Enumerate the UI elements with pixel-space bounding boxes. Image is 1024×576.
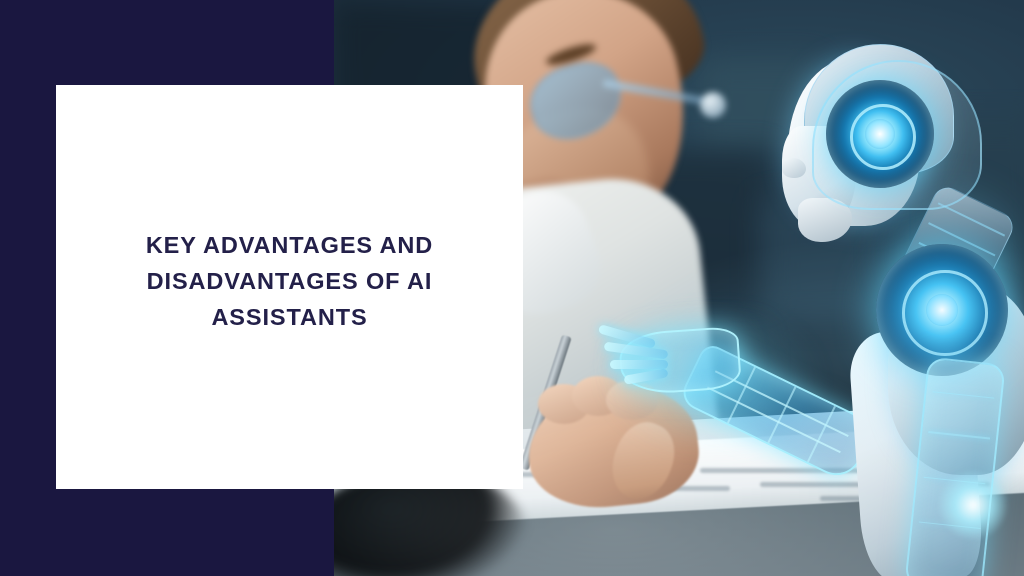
robot-shoulder-disc [876, 244, 1008, 376]
eyeglasses-hinge [700, 92, 726, 118]
robot-hand-glow [938, 470, 1008, 540]
humanoid-robot [760, 30, 1024, 570]
robot-nose [782, 158, 806, 178]
slide-canvas: KEY ADVANTAGES AND DISADVANTAGES OF AI A… [0, 0, 1024, 576]
title-card: KEY ADVANTAGES AND DISADVANTAGES OF AI A… [56, 85, 523, 489]
page-title: KEY ADVANTAGES AND DISADVANTAGES OF AI A… [146, 228, 433, 345]
title-line-3: ASSISTANTS [146, 300, 433, 336]
title-line-1: KEY ADVANTAGES AND [146, 228, 433, 264]
robot-ear-disc [826, 80, 934, 188]
title-line-2: DISADVANTAGES OF AI [146, 264, 433, 300]
hologram-finger [610, 360, 668, 369]
